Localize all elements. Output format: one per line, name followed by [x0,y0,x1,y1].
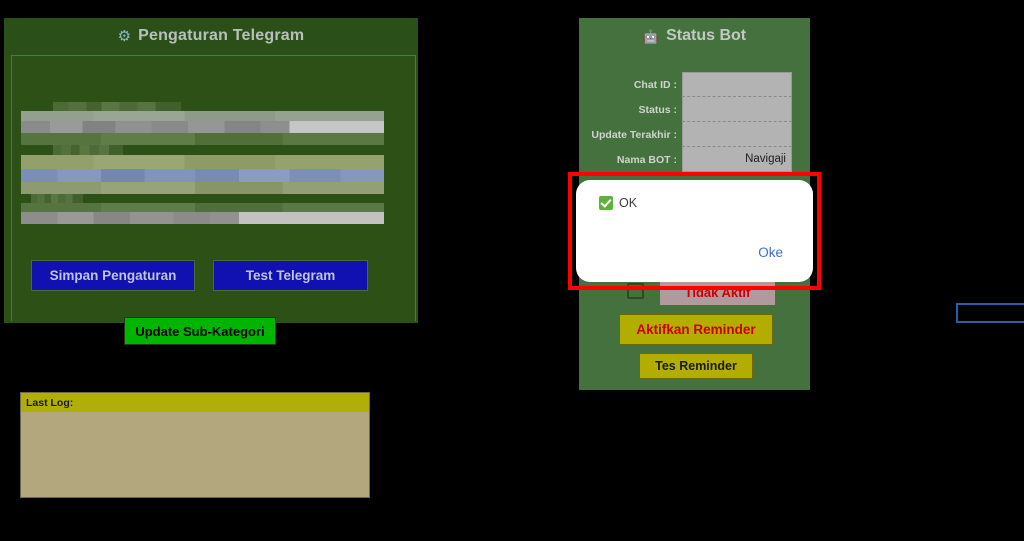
status-label-status: Status : [579,104,682,116]
status-value-status [682,97,792,122]
telegram-panel-header: ⚙ Pengaturan Telegram [4,18,418,54]
activate-reminder-button[interactable]: Aktifkan Reminder [619,314,773,345]
redacted-input-2[interactable] [21,169,384,182]
status-label-update-terakhir: Update Terakhir : [579,129,682,141]
status-bot-title: Status Bot [666,27,746,45]
status-label-nama-bot: Nama BOT : [579,154,682,166]
right-edge-box[interactable] [956,303,1024,323]
robot-icon: 🤖 [643,30,659,43]
status-row-chat-id: Chat ID : [579,72,810,97]
redacted-field-pad-2 [21,133,384,145]
dialog-highlight-box [568,172,821,290]
telegram-settings-panel: ⚙ Pengaturan Telegram Simpan Pengaturan … [4,18,418,323]
save-settings-button[interactable]: Simpan Pengaturan [31,260,195,291]
redacted-field-pad-1 [21,111,384,121]
redacted-field-label-2 [53,145,123,155]
status-bot-header: 🤖 Status Bot [579,18,810,54]
telegram-panel-body: Simpan Pengaturan Test Telegram Update S… [11,55,416,321]
last-log-body [21,412,369,497]
status-row-status: Status : [579,97,810,122]
redacted-input-3[interactable] [21,212,384,224]
status-row-nama-bot: Nama BOT : Navigaji [579,147,810,172]
status-label-chat-id: Chat ID : [579,79,682,91]
test-reminder-button[interactable]: Tes Reminder [639,353,753,379]
status-value-update-terakhir [682,122,792,147]
last-log-label: Last Log: [26,397,73,409]
gear-icon: ⚙ [118,29,131,44]
last-log-panel: Last Log: [20,392,370,498]
update-subcategory-button[interactable]: Update Sub-Kategori [124,317,276,345]
redacted-field-pad-3 [21,155,384,169]
redacted-settings-form [15,102,390,224]
redacted-field-label-1 [53,102,181,111]
last-log-header: Last Log: [21,393,369,412]
redacted-input-1[interactable] [21,121,384,133]
redacted-field-label-3 [31,194,83,203]
status-field-list: Chat ID : Status : Update Terakhir : Nam… [579,72,810,172]
redacted-field-pad-5 [21,203,384,212]
test-telegram-button[interactable]: Test Telegram [213,260,368,291]
status-value-nama-bot: Navigaji [682,147,792,172]
page-title: Pengaturan Telegram [138,27,304,45]
status-row-update-terakhir: Update Terakhir : [579,122,810,147]
redacted-field-pad-4 [21,182,384,194]
status-value-chat-id [682,72,792,97]
